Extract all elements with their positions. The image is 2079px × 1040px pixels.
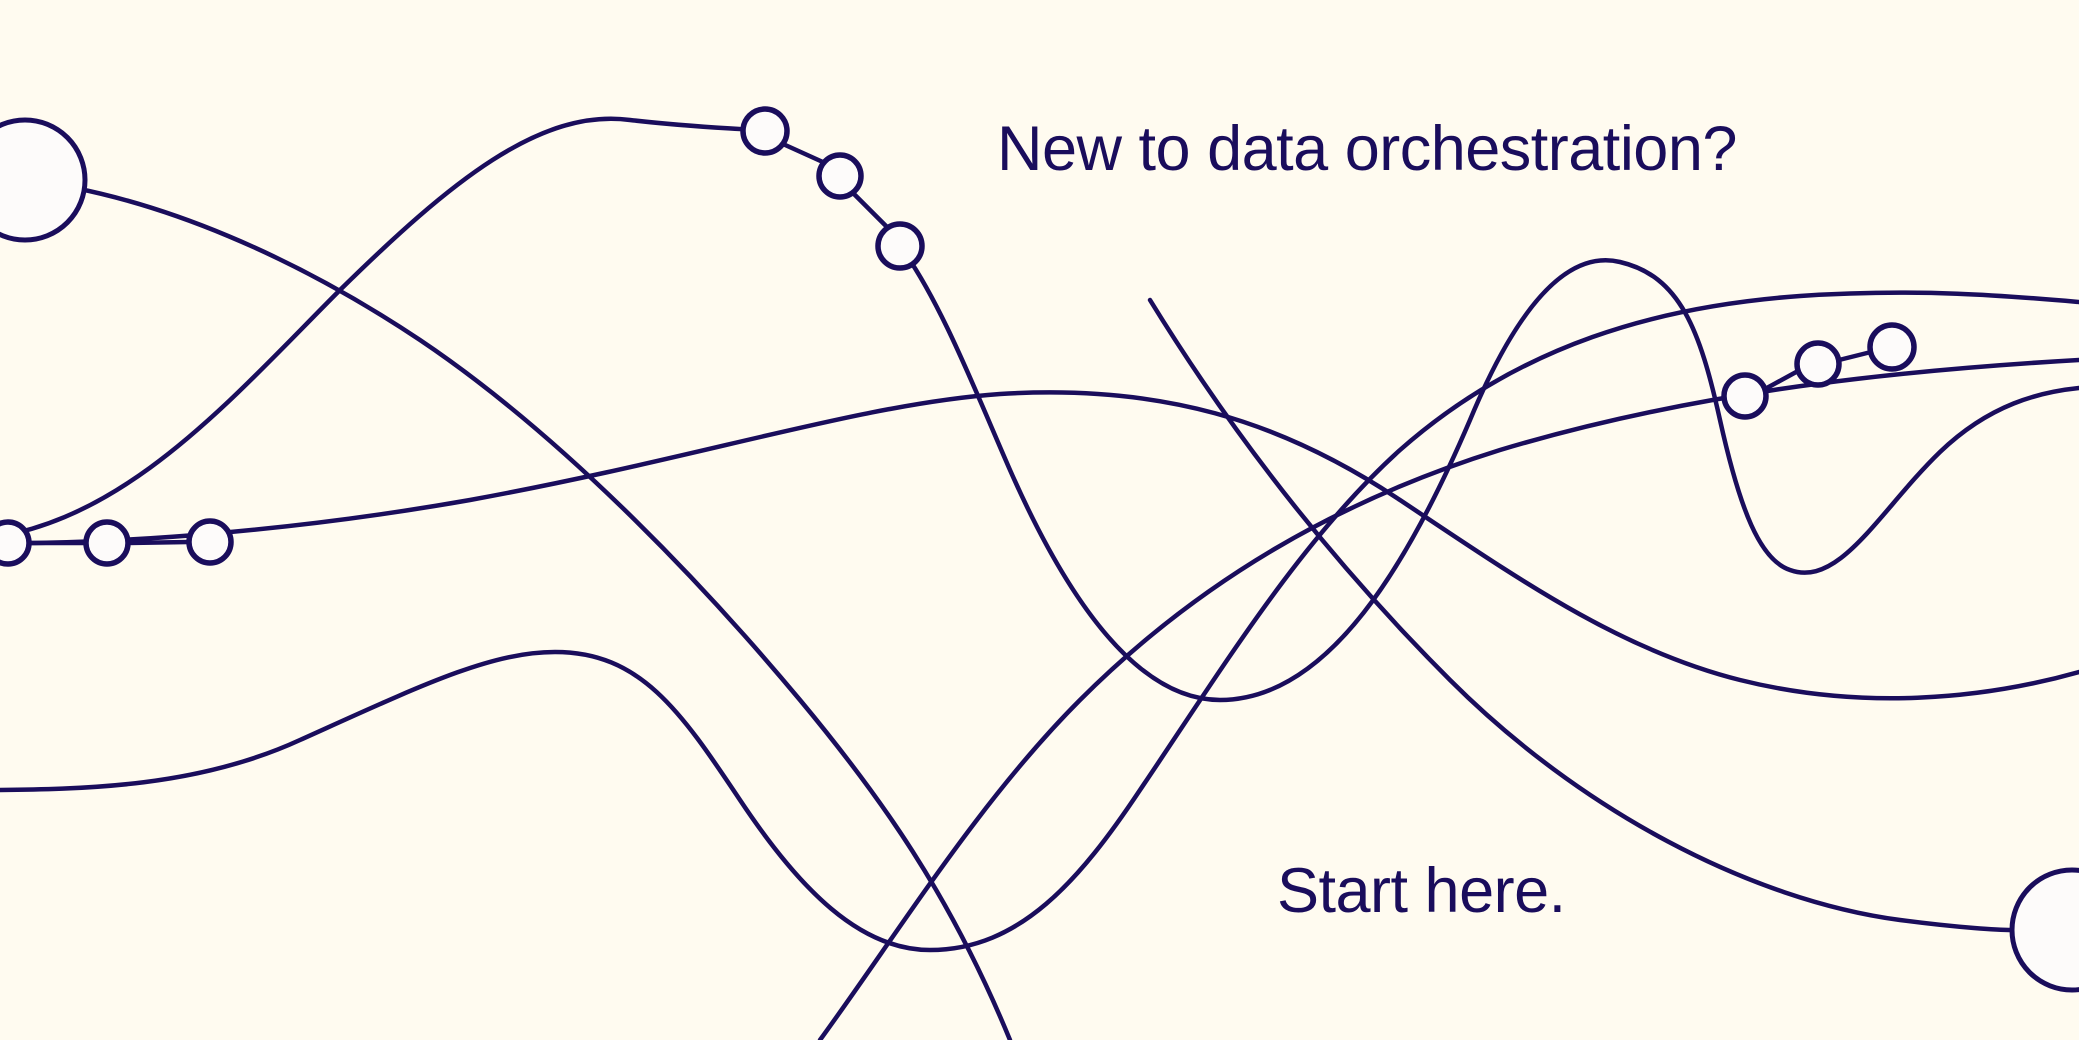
connector-layer: [29, 144, 1871, 543]
curve-arc-to-node-chain: [0, 119, 765, 540]
node-terminal-bottom-right: [2012, 870, 2079, 990]
connector-right-2-3: [1839, 352, 1871, 360]
node-top-chain-3: [878, 224, 922, 268]
page-subtitle: Start here.: [1277, 860, 1566, 923]
node-terminal-left: [0, 120, 85, 240]
connector-top-2-3: [853, 193, 888, 228]
page-title: New to data orchestration?: [997, 118, 1737, 181]
curve-top-descending: [25, 180, 1010, 1040]
connector-top-1-2: [783, 144, 825, 163]
curve-node-chain-descent: [900, 246, 2079, 700]
connector-left-2-3: [128, 542, 189, 543]
node-left-chain-2: [86, 522, 128, 564]
node-right-chain-2: [1797, 343, 1839, 385]
node-right-chain-3: [1870, 325, 1914, 369]
node-top-chain-1: [743, 109, 787, 153]
node-right-chain-1: [1724, 375, 1766, 417]
node-left-chain-1: [0, 522, 29, 564]
hero-banner: New to data orchestration? Start here.: [0, 0, 2079, 1040]
curve-layer: [0, 119, 2079, 1040]
curve-long-horizontal-wave: [0, 392, 2079, 698]
node-top-chain-2: [819, 155, 861, 197]
node-left-chain-3: [189, 521, 231, 563]
